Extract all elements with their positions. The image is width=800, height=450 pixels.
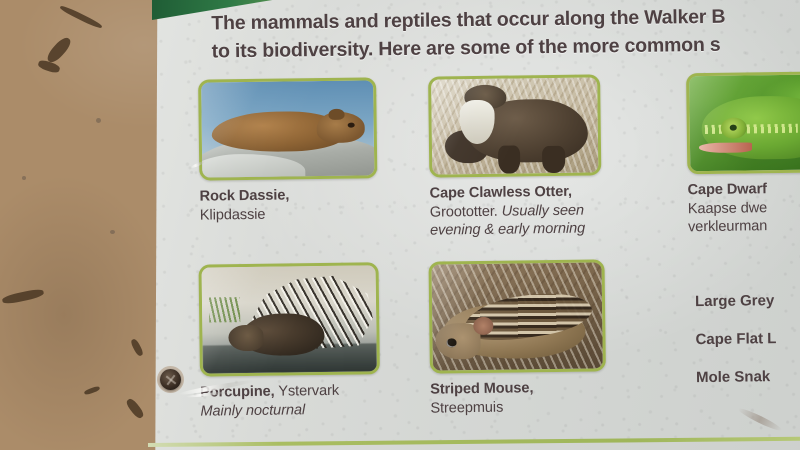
species-list-item: Mole Snak — [696, 368, 800, 385]
afrikaans-name: Kaapse dwe — [688, 200, 768, 217]
species-card-striped-mouse: Striped Mouse, Streepmuis — [428, 259, 606, 418]
caption-cape-dwarf-chameleon: Cape Dwarf Kaapse dwe verkleurman — [687, 179, 800, 237]
afrikaans-name: Streepmuis — [430, 399, 503, 416]
afrikaans-name: Klipdassie — [200, 206, 266, 223]
photo-cape-dwarf-chameleon — [686, 71, 800, 174]
common-name: Cape Dwarf — [687, 181, 766, 198]
common-name: Rock Dassie, — [200, 187, 290, 204]
species-card-cape-dwarf-chameleon: Cape Dwarf Kaapse dwe verkleurman — [686, 71, 800, 237]
species-card-porcupine: Porcupine, Ystervark Mainly nocturnal — [199, 262, 381, 421]
additional-species-list: Large Grey Cape Flat L Mole Snak — [695, 292, 800, 408]
species-list-item: Large Grey — [695, 292, 800, 309]
afrikaans-name: Groototter. — [430, 203, 498, 220]
species-card-cape-clawless-otter: Cape Clawless Otter, Groototter. Usually… — [428, 74, 602, 240]
mounting-screw — [160, 369, 181, 390]
afrikaans-name-continued: verkleurman — [688, 219, 767, 236]
behaviour-note: Mainly nocturnal — [200, 402, 305, 419]
sign-content: The mammals and reptiles that occur alon… — [0, 0, 800, 450]
common-name: Striped Mouse, — [430, 380, 533, 397]
species-card-grid: Rock Dassie, Klipdassie — [0, 0, 800, 450]
caption-striped-mouse: Striped Mouse, Streepmuis — [430, 378, 606, 418]
caption-rock-dassie: Rock Dassie, Klipdassie — [199, 185, 377, 225]
photograph-of-information-sign: The mammals and reptiles that occur alon… — [0, 0, 800, 450]
caption-cape-clawless-otter: Cape Clawless Otter, Groototter. Usually… — [429, 182, 602, 240]
photo-striped-mouse — [428, 259, 605, 373]
common-name: Cape Clawless Otter, — [429, 184, 572, 202]
caption-porcupine: Porcupine, Ystervark Mainly nocturnal — [200, 381, 380, 421]
common-name: Porcupine, — [200, 384, 275, 401]
species-list-item: Cape Flat L — [695, 330, 800, 347]
photo-rock-dassie — [198, 77, 377, 180]
photo-porcupine — [199, 262, 380, 376]
afrikaans-name: Ystervark — [278, 383, 339, 400]
species-card-rock-dassie: Rock Dassie, Klipdassie — [198, 77, 378, 225]
photo-cape-clawless-otter — [428, 74, 601, 177]
